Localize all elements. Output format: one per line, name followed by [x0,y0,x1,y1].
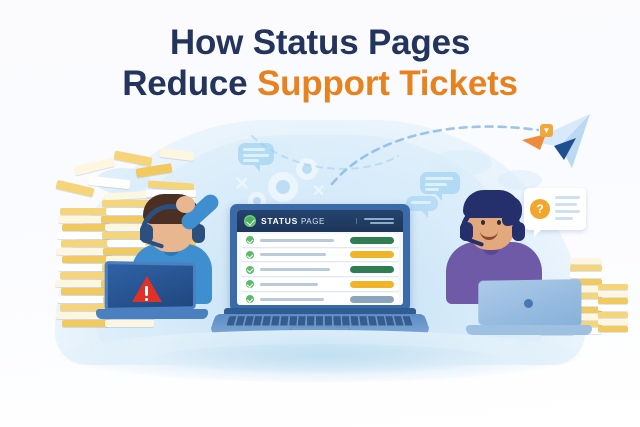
status-page-subtitle: PAGE [301,217,325,226]
card-text-line [555,196,580,199]
laptop-lid: STATUS PAGE [230,204,410,312]
laptop-base [466,325,592,335]
trackpad[interactable] [290,327,350,332]
laptop-with-alert [96,262,204,324]
title-line-2-accent: Support Tickets [257,64,518,103]
status-pill-operational [350,237,394,244]
table-row[interactable] [241,293,399,305]
check-circle-icon [246,295,254,303]
status-pill-operational [350,266,394,273]
laptop-right [470,280,590,342]
table-row[interactable] [241,234,399,247]
warning-exclamation [145,286,148,296]
service-name-bar [260,298,324,301]
headset-earcup [512,222,525,241]
status-row-list [237,232,403,305]
laptop-base [96,309,208,319]
service-name-bar [260,268,330,271]
status-pill-degraded [350,281,394,288]
status-page-meta [356,218,396,224]
check-circle-icon [246,266,254,274]
agent-hand [176,196,195,213]
status-page-header: STATUS PAGE [237,210,403,232]
warning-exclamation-dot [145,298,148,301]
laptop-logo-dot [524,299,533,308]
check-circle-icon [246,280,254,288]
title-line-1: How Status Pages [0,22,640,63]
check-circle-icon [246,236,254,244]
table-row[interactable] [241,278,399,291]
keyboard[interactable] [226,316,413,325]
illustration-canvas: ✕ ✕ ✕ ▼ [0,0,640,427]
table-row[interactable] [241,249,399,262]
laptop-status-page: STATUS PAGE [218,204,422,344]
paper-plane-icon [520,112,596,174]
ticket-deflection-arc-secondary [250,128,400,188]
card-text-line [555,210,580,213]
x-mark-icon: ✕ [234,175,250,194]
laptop-keyboard-deck [209,314,432,335]
x-mark-icon: ✕ [214,148,223,159]
service-name-bar [260,253,326,256]
status-page-screen: STATUS PAGE [237,210,403,305]
status-page-title: STATUS [261,216,298,226]
title-line-2-prefix: Reduce [122,64,257,103]
status-pill-maintenance [350,296,394,303]
card-text-line [555,203,577,206]
table-row[interactable] [241,263,399,276]
service-name-bar [260,239,334,242]
service-name-bar [260,283,318,286]
status-pill-degraded [350,251,394,258]
check-circle-icon [246,251,254,259]
title-line-2: Reduce Support Tickets [0,63,640,104]
check-circle-icon [244,215,256,227]
page-title: How Status Pages Reduce Support Tickets [0,22,640,105]
plane-badge-icon: ▼ [540,124,553,137]
